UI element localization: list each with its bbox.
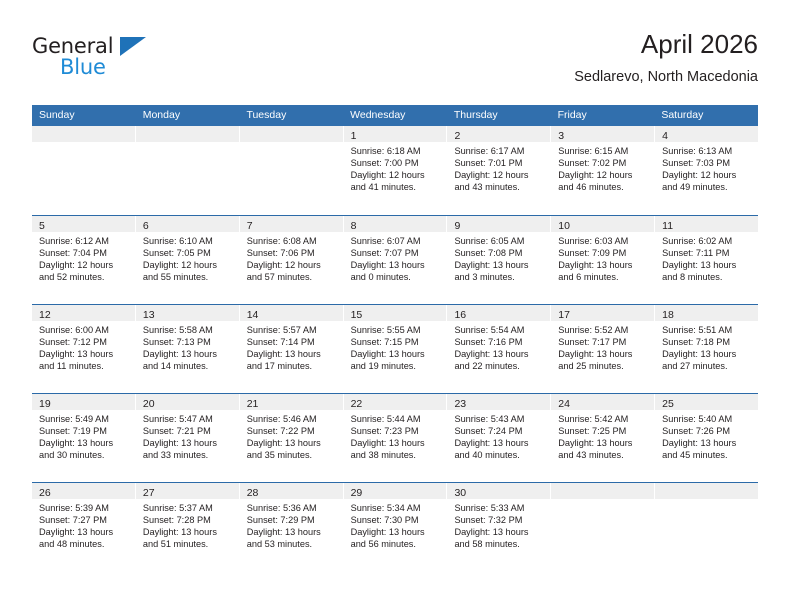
sunrise-text: Sunrise: 5:43 AM <box>454 413 544 425</box>
day-number: 19 <box>39 398 51 410</box>
day-number: 17 <box>558 309 570 321</box>
daylight-text-line1: Daylight: 13 hours <box>662 437 752 449</box>
sunrise-text: Sunrise: 5:47 AM <box>143 413 233 425</box>
day-number-bar: 8 <box>344 216 447 232</box>
daylight-text-line1: Daylight: 12 hours <box>662 169 752 181</box>
sunrise-text: Sunrise: 6:08 AM <box>247 235 337 247</box>
day-details: Sunrise: 5:42 AMSunset: 7:25 PMDaylight:… <box>551 410 654 461</box>
day-details: Sunrise: 5:51 AMSunset: 7:18 PMDaylight:… <box>655 321 758 372</box>
day-details: Sunrise: 6:07 AMSunset: 7:07 PMDaylight:… <box>344 232 447 283</box>
calendar-day-cell[interactable]: 23Sunrise: 5:43 AMSunset: 7:24 PMDayligh… <box>447 394 551 482</box>
day-details: Sunrise: 5:57 AMSunset: 7:14 PMDaylight:… <box>240 321 343 372</box>
sunrise-text: Sunrise: 5:40 AM <box>662 413 752 425</box>
day-details: Sunrise: 5:58 AMSunset: 7:13 PMDaylight:… <box>136 321 239 372</box>
calendar-day-cell[interactable]: 7Sunrise: 6:08 AMSunset: 7:06 PMDaylight… <box>240 216 344 304</box>
daylight-text-line2: and 57 minutes. <box>247 271 337 283</box>
logo-text-blue: Blue <box>60 55 106 79</box>
day-number: 8 <box>351 220 357 232</box>
day-details: Sunrise: 5:55 AMSunset: 7:15 PMDaylight:… <box>344 321 447 372</box>
daylight-text-line1: Daylight: 13 hours <box>558 348 648 360</box>
sunset-text: Sunset: 7:02 PM <box>558 157 648 169</box>
daylight-text-line1: Daylight: 13 hours <box>143 348 233 360</box>
day-number: 13 <box>143 309 155 321</box>
day-number-bar: 13 <box>136 305 239 321</box>
day-details <box>240 142 343 145</box>
day-details: Sunrise: 5:44 AMSunset: 7:23 PMDaylight:… <box>344 410 447 461</box>
daylight-text-line2: and 45 minutes. <box>662 449 752 461</box>
day-number-bar: 10 <box>551 216 654 232</box>
daylight-text-line2: and 48 minutes. <box>39 538 129 550</box>
calendar-day-cell[interactable]: 14Sunrise: 5:57 AMSunset: 7:14 PMDayligh… <box>240 305 344 393</box>
sunset-text: Sunset: 7:29 PM <box>247 514 337 526</box>
day-number-bar: 25 <box>655 394 758 410</box>
daylight-text-line2: and 40 minutes. <box>454 449 544 461</box>
sunrise-text: Sunrise: 5:54 AM <box>454 324 544 336</box>
daylight-text-line2: and 43 minutes. <box>558 449 648 461</box>
sunrise-text: Sunrise: 6:13 AM <box>662 145 752 157</box>
day-number-bar: 3 <box>551 126 654 142</box>
day-number-bar: 18 <box>655 305 758 321</box>
day-details: Sunrise: 6:18 AMSunset: 7:00 PMDaylight:… <box>344 142 447 193</box>
sunset-text: Sunset: 7:30 PM <box>351 514 441 526</box>
day-details: Sunrise: 6:12 AMSunset: 7:04 PMDaylight:… <box>32 232 135 283</box>
daylight-text-line1: Daylight: 13 hours <box>351 526 441 538</box>
day-number: 26 <box>39 487 51 499</box>
day-number: 20 <box>143 398 155 410</box>
sunrise-text: Sunrise: 5:58 AM <box>143 324 233 336</box>
sunrise-text: Sunrise: 6:15 AM <box>558 145 648 157</box>
calendar-day-cell[interactable]: 19Sunrise: 5:49 AMSunset: 7:19 PMDayligh… <box>32 394 136 482</box>
daylight-text-line1: Daylight: 13 hours <box>454 259 544 271</box>
day-number: 7 <box>247 220 253 232</box>
day-number-bar <box>655 483 758 499</box>
day-number: 16 <box>454 309 466 321</box>
sunrise-text: Sunrise: 5:42 AM <box>558 413 648 425</box>
daylight-text-line2: and 0 minutes. <box>351 271 441 283</box>
calendar-day-cell[interactable]: 8Sunrise: 6:07 AMSunset: 7:07 PMDaylight… <box>344 216 448 304</box>
day-number: 27 <box>143 487 155 499</box>
sunrise-text: Sunrise: 6:00 AM <box>39 324 129 336</box>
day-number-bar: 11 <box>655 216 758 232</box>
day-details <box>136 142 239 145</box>
calendar-day-cell-empty <box>655 483 758 571</box>
day-number: 5 <box>39 220 45 232</box>
day-details: Sunrise: 6:13 AMSunset: 7:03 PMDaylight:… <box>655 142 758 193</box>
calendar-day-cell[interactable]: 30Sunrise: 5:33 AMSunset: 7:32 PMDayligh… <box>447 483 551 571</box>
day-number: 30 <box>454 487 466 499</box>
daylight-text-line2: and 55 minutes. <box>143 271 233 283</box>
daylight-text-line1: Daylight: 13 hours <box>558 437 648 449</box>
weekday-header-thursday: Thursday <box>447 105 551 126</box>
day-number: 15 <box>351 309 363 321</box>
sunset-text: Sunset: 7:28 PM <box>143 514 233 526</box>
daylight-text-line1: Daylight: 13 hours <box>454 526 544 538</box>
calendar-day-cell[interactable]: 21Sunrise: 5:46 AMSunset: 7:22 PMDayligh… <box>240 394 344 482</box>
day-number-bar: 6 <box>136 216 239 232</box>
sunset-text: Sunset: 7:23 PM <box>351 425 441 437</box>
page-title: April 2026 <box>574 28 758 60</box>
day-details <box>655 499 758 502</box>
day-details: Sunrise: 6:15 AMSunset: 7:02 PMDaylight:… <box>551 142 654 193</box>
weekday-header-friday: Friday <box>551 105 655 126</box>
calendar-week-row: 19Sunrise: 5:49 AMSunset: 7:19 PMDayligh… <box>32 393 758 482</box>
day-number-bar: 21 <box>240 394 343 410</box>
sunset-text: Sunset: 7:21 PM <box>143 425 233 437</box>
day-details: Sunrise: 5:36 AMSunset: 7:29 PMDaylight:… <box>240 499 343 550</box>
calendar-day-cell[interactable]: 18Sunrise: 5:51 AMSunset: 7:18 PMDayligh… <box>655 305 758 393</box>
day-number-bar: 20 <box>136 394 239 410</box>
calendar-day-cell[interactable]: 29Sunrise: 5:34 AMSunset: 7:30 PMDayligh… <box>344 483 448 571</box>
day-details: Sunrise: 5:54 AMSunset: 7:16 PMDaylight:… <box>447 321 550 372</box>
daylight-text-line1: Daylight: 13 hours <box>662 259 752 271</box>
daylight-text-line1: Daylight: 13 hours <box>247 348 337 360</box>
day-details: Sunrise: 6:00 AMSunset: 7:12 PMDaylight:… <box>32 321 135 372</box>
sunset-text: Sunset: 7:14 PM <box>247 336 337 348</box>
daylight-text-line2: and 17 minutes. <box>247 360 337 372</box>
sunrise-text: Sunrise: 6:07 AM <box>351 235 441 247</box>
sunrise-text: Sunrise: 6:17 AM <box>454 145 544 157</box>
calendar-day-cell-empty <box>551 483 655 571</box>
sunrise-text: Sunrise: 6:18 AM <box>351 145 441 157</box>
day-number: 12 <box>39 309 51 321</box>
calendar-day-cell[interactable]: 12Sunrise: 6:00 AMSunset: 7:12 PMDayligh… <box>32 305 136 393</box>
daylight-text-line2: and 46 minutes. <box>558 181 648 193</box>
day-number: 23 <box>454 398 466 410</box>
daylight-text-line1: Daylight: 13 hours <box>39 348 129 360</box>
sunset-text: Sunset: 7:24 PM <box>454 425 544 437</box>
daylight-text-line2: and 11 minutes. <box>39 360 129 372</box>
daylight-text-line1: Daylight: 13 hours <box>558 259 648 271</box>
calendar-day-cell[interactable]: 15Sunrise: 5:55 AMSunset: 7:15 PMDayligh… <box>344 305 448 393</box>
sunrise-text: Sunrise: 6:03 AM <box>558 235 648 247</box>
calendar-day-cell[interactable]: 27Sunrise: 5:37 AMSunset: 7:28 PMDayligh… <box>136 483 240 571</box>
day-number-bar <box>551 483 654 499</box>
page-header: General Blue April 2026 Sedlarevo, North… <box>32 28 758 98</box>
sunrise-text: Sunrise: 5:39 AM <box>39 502 129 514</box>
day-number-bar: 27 <box>136 483 239 499</box>
day-number-bar <box>240 126 343 142</box>
sunrise-text: Sunrise: 5:51 AM <box>662 324 752 336</box>
sunrise-text: Sunrise: 5:34 AM <box>351 502 441 514</box>
daylight-text-line2: and 14 minutes. <box>143 360 233 372</box>
daylight-text-line2: and 6 minutes. <box>558 271 648 283</box>
day-details <box>551 499 654 502</box>
weekday-header-saturday: Saturday <box>654 105 758 126</box>
day-number-bar: 7 <box>240 216 343 232</box>
daylight-text-line2: and 51 minutes. <box>143 538 233 550</box>
day-details: Sunrise: 5:34 AMSunset: 7:30 PMDaylight:… <box>344 499 447 550</box>
calendar-day-cell-empty <box>32 126 136 215</box>
sunrise-text: Sunrise: 5:44 AM <box>351 413 441 425</box>
day-number-bar <box>32 126 135 142</box>
day-details: Sunrise: 6:03 AMSunset: 7:09 PMDaylight:… <box>551 232 654 283</box>
day-details: Sunrise: 5:47 AMSunset: 7:21 PMDaylight:… <box>136 410 239 461</box>
day-number: 11 <box>662 220 673 232</box>
daylight-text-line2: and 53 minutes. <box>247 538 337 550</box>
sunrise-text: Sunrise: 6:12 AM <box>39 235 129 247</box>
calendar-day-cell[interactable]: 3Sunrise: 6:15 AMSunset: 7:02 PMDaylight… <box>551 126 655 215</box>
daylight-text-line1: Daylight: 13 hours <box>247 437 337 449</box>
day-details: Sunrise: 5:52 AMSunset: 7:17 PMDaylight:… <box>551 321 654 372</box>
day-number: 1 <box>351 130 357 142</box>
day-details: Sunrise: 6:10 AMSunset: 7:05 PMDaylight:… <box>136 232 239 283</box>
daylight-text-line2: and 58 minutes. <box>454 538 544 550</box>
daylight-text-line2: and 25 minutes. <box>558 360 648 372</box>
day-details: Sunrise: 5:33 AMSunset: 7:32 PMDaylight:… <box>447 499 550 550</box>
weekday-header-row: Sunday Monday Tuesday Wednesday Thursday… <box>32 105 758 126</box>
calendar-week-row: 26Sunrise: 5:39 AMSunset: 7:27 PMDayligh… <box>32 482 758 571</box>
sunrise-text: Sunrise: 5:33 AM <box>454 502 544 514</box>
daylight-text-line2: and 35 minutes. <box>247 449 337 461</box>
daylight-text-line1: Daylight: 13 hours <box>454 348 544 360</box>
daylight-text-line1: Daylight: 13 hours <box>143 437 233 449</box>
daylight-text-line1: Daylight: 13 hours <box>39 526 129 538</box>
day-number-bar <box>136 126 239 142</box>
sunset-text: Sunset: 7:07 PM <box>351 247 441 259</box>
daylight-text-line2: and 49 minutes. <box>662 181 752 193</box>
daylight-text-line2: and 3 minutes. <box>454 271 544 283</box>
day-details: Sunrise: 5:40 AMSunset: 7:26 PMDaylight:… <box>655 410 758 461</box>
day-number-bar: 9 <box>447 216 550 232</box>
day-number: 29 <box>351 487 363 499</box>
day-number-bar: 12 <box>32 305 135 321</box>
day-number-bar: 5 <box>32 216 135 232</box>
sunset-text: Sunset: 7:25 PM <box>558 425 648 437</box>
calendar-day-cell[interactable]: 5Sunrise: 6:12 AMSunset: 7:04 PMDaylight… <box>32 216 136 304</box>
title-block: April 2026 Sedlarevo, North Macedonia <box>574 28 758 88</box>
day-number-bar: 29 <box>344 483 447 499</box>
day-details <box>32 142 135 145</box>
day-details: Sunrise: 6:08 AMSunset: 7:06 PMDaylight:… <box>240 232 343 283</box>
sunset-text: Sunset: 7:03 PM <box>662 157 752 169</box>
sunrise-text: Sunrise: 5:52 AM <box>558 324 648 336</box>
day-number-bar: 26 <box>32 483 135 499</box>
day-number: 25 <box>662 398 674 410</box>
sunrise-text: Sunrise: 5:37 AM <box>143 502 233 514</box>
sunset-text: Sunset: 7:19 PM <box>39 425 129 437</box>
day-number-bar: 14 <box>240 305 343 321</box>
daylight-text-line2: and 52 minutes. <box>39 271 129 283</box>
day-number-bar: 22 <box>344 394 447 410</box>
sunset-text: Sunset: 7:00 PM <box>351 157 441 169</box>
daylight-text-line2: and 38 minutes. <box>351 449 441 461</box>
sunset-text: Sunset: 7:08 PM <box>454 247 544 259</box>
calendar-day-cell[interactable]: 16Sunrise: 5:54 AMSunset: 7:16 PMDayligh… <box>447 305 551 393</box>
sunset-text: Sunset: 7:05 PM <box>143 247 233 259</box>
daylight-text-line2: and 33 minutes. <box>143 449 233 461</box>
sunset-text: Sunset: 7:04 PM <box>39 247 129 259</box>
daylight-text-line1: Daylight: 13 hours <box>143 526 233 538</box>
day-number-bar: 28 <box>240 483 343 499</box>
day-details: Sunrise: 6:05 AMSunset: 7:08 PMDaylight:… <box>447 232 550 283</box>
calendar-day-cell[interactable]: 9Sunrise: 6:05 AMSunset: 7:08 PMDaylight… <box>447 216 551 304</box>
sunrise-text: Sunrise: 5:55 AM <box>351 324 441 336</box>
day-number: 6 <box>143 220 149 232</box>
calendar-day-cell[interactable]: 28Sunrise: 5:36 AMSunset: 7:29 PMDayligh… <box>240 483 344 571</box>
sunset-text: Sunset: 7:32 PM <box>454 514 544 526</box>
daylight-text-line2: and 8 minutes. <box>662 271 752 283</box>
calendar-day-cell[interactable]: 24Sunrise: 5:42 AMSunset: 7:25 PMDayligh… <box>551 394 655 482</box>
daylight-text-line1: Daylight: 12 hours <box>558 169 648 181</box>
general-blue-logo: General Blue <box>32 34 172 84</box>
day-details: Sunrise: 5:43 AMSunset: 7:24 PMDaylight:… <box>447 410 550 461</box>
sunrise-text: Sunrise: 5:36 AM <box>247 502 337 514</box>
day-details: Sunrise: 6:17 AMSunset: 7:01 PMDaylight:… <box>447 142 550 193</box>
daylight-text-line2: and 27 minutes. <box>662 360 752 372</box>
day-number-bar: 1 <box>344 126 447 142</box>
sunset-text: Sunset: 7:18 PM <box>662 336 752 348</box>
day-details: Sunrise: 5:39 AMSunset: 7:27 PMDaylight:… <box>32 499 135 550</box>
daylight-text-line2: and 19 minutes. <box>351 360 441 372</box>
day-details: Sunrise: 5:49 AMSunset: 7:19 PMDaylight:… <box>32 410 135 461</box>
daylight-text-line1: Daylight: 12 hours <box>39 259 129 271</box>
weekday-header-sunday: Sunday <box>32 105 136 126</box>
daylight-text-line1: Daylight: 13 hours <box>39 437 129 449</box>
day-number-bar: 19 <box>32 394 135 410</box>
sunrise-text: Sunrise: 6:05 AM <box>454 235 544 247</box>
daylight-text-line1: Daylight: 13 hours <box>454 437 544 449</box>
sunset-text: Sunset: 7:06 PM <box>247 247 337 259</box>
day-number: 9 <box>454 220 460 232</box>
sunset-text: Sunset: 7:17 PM <box>558 336 648 348</box>
sunset-text: Sunset: 7:12 PM <box>39 336 129 348</box>
day-number-bar: 24 <box>551 394 654 410</box>
sunrise-text: Sunrise: 6:02 AM <box>662 235 752 247</box>
day-number-bar: 15 <box>344 305 447 321</box>
daylight-text-line2: and 41 minutes. <box>351 181 441 193</box>
calendar-day-cell[interactable]: 10Sunrise: 6:03 AMSunset: 7:09 PMDayligh… <box>551 216 655 304</box>
weekday-header-tuesday: Tuesday <box>239 105 343 126</box>
calendar-page: General Blue April 2026 Sedlarevo, North… <box>0 0 792 612</box>
calendar-day-cell-empty <box>240 126 344 215</box>
calendar-day-cell[interactable]: 17Sunrise: 5:52 AMSunset: 7:17 PMDayligh… <box>551 305 655 393</box>
day-number: 2 <box>454 130 460 142</box>
day-details: Sunrise: 5:46 AMSunset: 7:22 PMDaylight:… <box>240 410 343 461</box>
calendar-grid: Sunday Monday Tuesday Wednesday Thursday… <box>32 105 758 571</box>
day-number: 21 <box>247 398 259 410</box>
calendar-day-cell[interactable]: 26Sunrise: 5:39 AMSunset: 7:27 PMDayligh… <box>32 483 136 571</box>
day-number: 3 <box>558 130 564 142</box>
calendar-week-row: 5Sunrise: 6:12 AMSunset: 7:04 PMDaylight… <box>32 215 758 304</box>
daylight-text-line2: and 56 minutes. <box>351 538 441 550</box>
weekday-header-wednesday: Wednesday <box>343 105 447 126</box>
daylight-text-line1: Daylight: 12 hours <box>247 259 337 271</box>
day-number-bar: 4 <box>655 126 758 142</box>
sunset-text: Sunset: 7:13 PM <box>143 336 233 348</box>
calendar-week-row: 1Sunrise: 6:18 AMSunset: 7:00 PMDaylight… <box>32 126 758 215</box>
day-number: 28 <box>247 487 259 499</box>
day-details: Sunrise: 5:37 AMSunset: 7:28 PMDaylight:… <box>136 499 239 550</box>
sunset-text: Sunset: 7:15 PM <box>351 336 441 348</box>
daylight-text-line1: Daylight: 13 hours <box>662 348 752 360</box>
day-number-bar: 23 <box>447 394 550 410</box>
sunset-text: Sunset: 7:16 PM <box>454 336 544 348</box>
calendar-day-cell[interactable]: 4Sunrise: 6:13 AMSunset: 7:03 PMDaylight… <box>655 126 758 215</box>
day-number: 4 <box>662 130 668 142</box>
calendar-day-cell[interactable]: 13Sunrise: 5:58 AMSunset: 7:13 PMDayligh… <box>136 305 240 393</box>
sunrise-text: Sunrise: 5:46 AM <box>247 413 337 425</box>
daylight-text-line2: and 30 minutes. <box>39 449 129 461</box>
sunset-text: Sunset: 7:11 PM <box>662 247 752 259</box>
calendar-day-cell[interactable]: 2Sunrise: 6:17 AMSunset: 7:01 PMDaylight… <box>447 126 551 215</box>
daylight-text-line1: Daylight: 13 hours <box>351 259 441 271</box>
calendar-day-cell[interactable]: 25Sunrise: 5:40 AMSunset: 7:26 PMDayligh… <box>655 394 758 482</box>
daylight-text-line1: Daylight: 12 hours <box>143 259 233 271</box>
calendar-day-cell[interactable]: 22Sunrise: 5:44 AMSunset: 7:23 PMDayligh… <box>344 394 448 482</box>
day-number-bar: 16 <box>447 305 550 321</box>
calendar-day-cell[interactable]: 6Sunrise: 6:10 AMSunset: 7:05 PMDaylight… <box>136 216 240 304</box>
daylight-text-line1: Daylight: 13 hours <box>351 437 441 449</box>
calendar-day-cell[interactable]: 1Sunrise: 6:18 AMSunset: 7:00 PMDaylight… <box>344 126 448 215</box>
calendar-day-cell-empty <box>136 126 240 215</box>
day-details: Sunrise: 6:02 AMSunset: 7:11 PMDaylight:… <box>655 232 758 283</box>
triangle-icon <box>120 37 146 56</box>
weekday-header-monday: Monday <box>136 105 240 126</box>
page-subtitle: Sedlarevo, North Macedonia <box>574 66 758 88</box>
calendar-day-cell[interactable]: 11Sunrise: 6:02 AMSunset: 7:11 PMDayligh… <box>655 216 758 304</box>
sunset-text: Sunset: 7:22 PM <box>247 425 337 437</box>
day-number: 18 <box>662 309 674 321</box>
sunset-text: Sunset: 7:01 PM <box>454 157 544 169</box>
daylight-text-line2: and 22 minutes. <box>454 360 544 372</box>
calendar-weeks: 1Sunrise: 6:18 AMSunset: 7:00 PMDaylight… <box>32 126 758 571</box>
day-number-bar: 30 <box>447 483 550 499</box>
sunset-text: Sunset: 7:09 PM <box>558 247 648 259</box>
calendar-day-cell[interactable]: 20Sunrise: 5:47 AMSunset: 7:21 PMDayligh… <box>136 394 240 482</box>
sunset-text: Sunset: 7:26 PM <box>662 425 752 437</box>
daylight-text-line1: Daylight: 13 hours <box>351 348 441 360</box>
daylight-text-line1: Daylight: 13 hours <box>247 526 337 538</box>
day-number: 24 <box>558 398 570 410</box>
calendar-week-row: 12Sunrise: 6:00 AMSunset: 7:12 PMDayligh… <box>32 304 758 393</box>
day-number: 22 <box>351 398 363 410</box>
day-number-bar: 17 <box>551 305 654 321</box>
day-number: 10 <box>558 220 570 232</box>
sunset-text: Sunset: 7:27 PM <box>39 514 129 526</box>
daylight-text-line1: Daylight: 12 hours <box>351 169 441 181</box>
sunrise-text: Sunrise: 5:57 AM <box>247 324 337 336</box>
daylight-text-line1: Daylight: 12 hours <box>454 169 544 181</box>
day-number-bar: 2 <box>447 126 550 142</box>
daylight-text-line2: and 43 minutes. <box>454 181 544 193</box>
sunrise-text: Sunrise: 5:49 AM <box>39 413 129 425</box>
day-number: 14 <box>247 309 259 321</box>
sunrise-text: Sunrise: 6:10 AM <box>143 235 233 247</box>
